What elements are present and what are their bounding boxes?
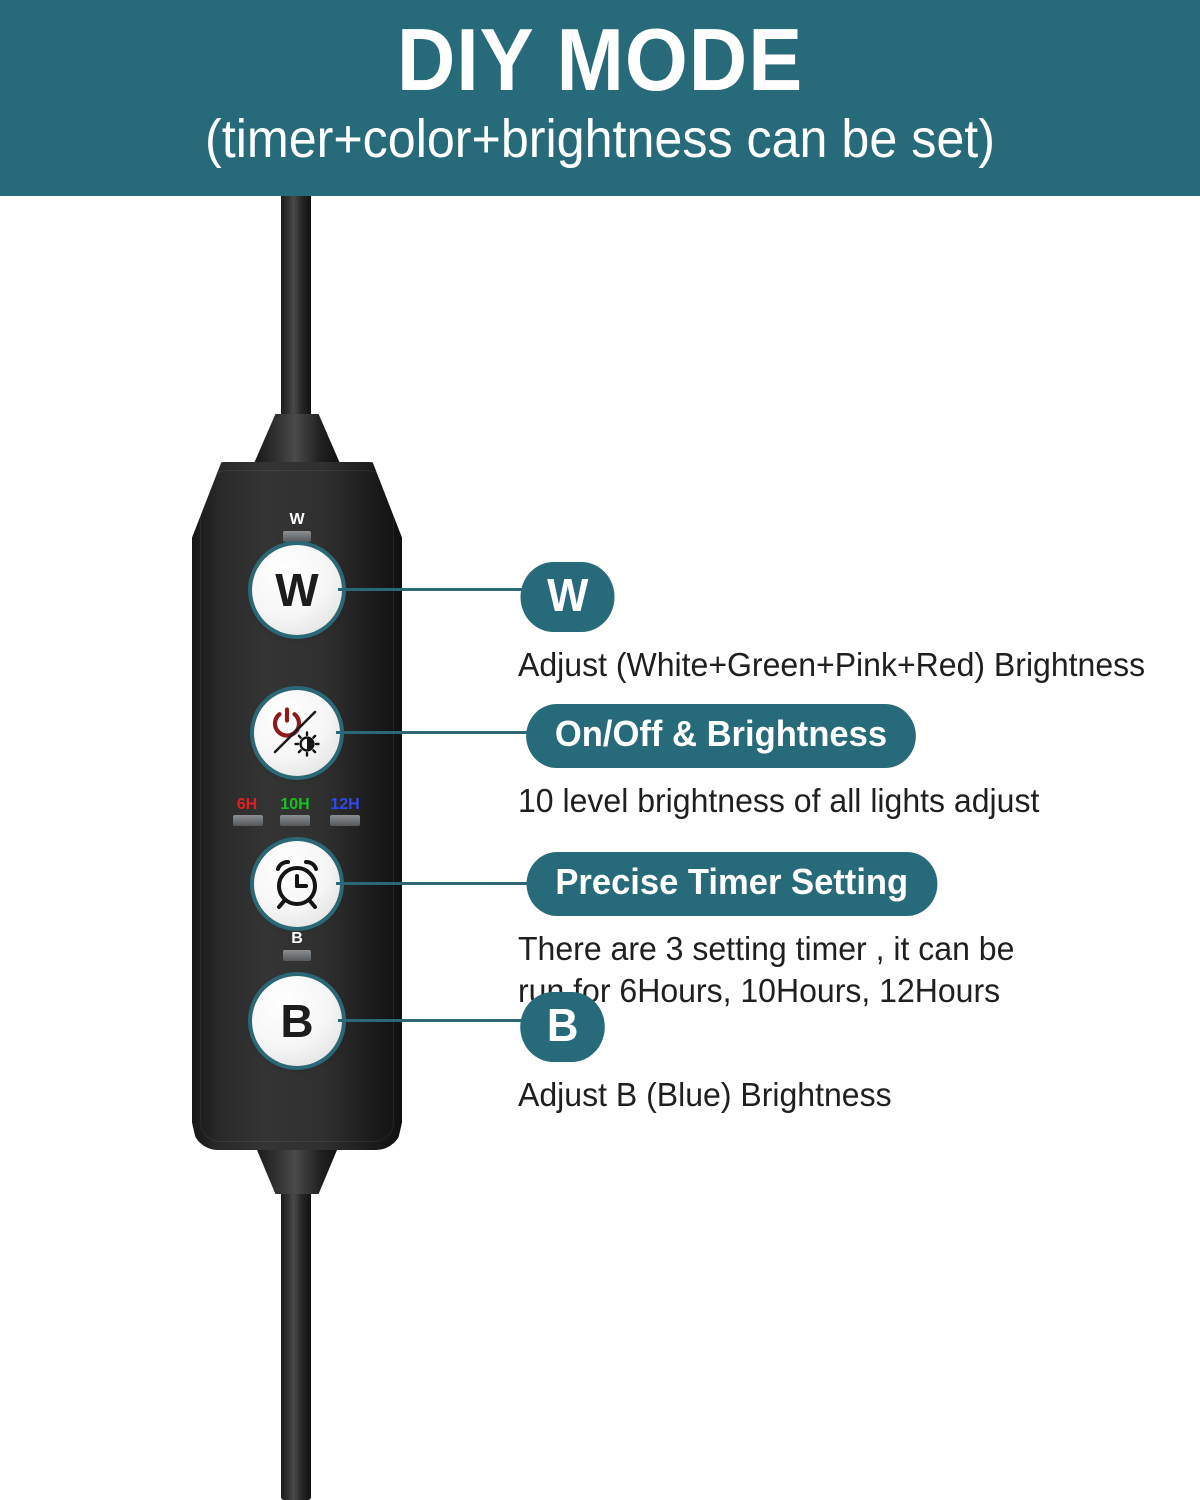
button-b[interactable]: B (252, 976, 342, 1066)
callout-connector-timer (336, 882, 536, 885)
led-indicator-label-10h: 10H (272, 797, 318, 813)
callout-description-power-brightness: 10 level brightness of all lights adjust (518, 780, 1039, 822)
button-w[interactable]: W (252, 545, 342, 635)
led-indicator-label-w: W (272, 512, 322, 528)
page-title: DIY MODE (48, 12, 1152, 108)
power-cable-top (281, 180, 311, 430)
header-banner: DIY MODE (timer+color+brightness can be … (0, 0, 1200, 196)
button-timer[interactable] (254, 841, 340, 927)
power-brightness-icon (266, 702, 328, 764)
callout-b: B Adjust B (Blue) Brightness (518, 992, 903, 1116)
strain-relief-top (252, 414, 342, 468)
led-indicator-label-6h: 6H (228, 797, 266, 813)
led-indicator-bar-12h (330, 815, 360, 826)
callout-precise-timer-setting: Precise Timer Setting There are 3 settin… (518, 852, 1030, 1012)
led-indicator-label-12h: 12H (322, 797, 368, 813)
led-indicator-bar-10h (280, 815, 310, 826)
callout-connector-w (338, 588, 544, 591)
callout-pill-w: W (520, 562, 614, 632)
callout-power-brightness: On/Off & Brightness 10 level brightness … (518, 704, 1055, 822)
button-b-letter: B (280, 998, 313, 1044)
button-w-letter: W (275, 567, 318, 613)
callout-pill-precise-timer-setting: Precise Timer Setting (527, 852, 937, 916)
callout-connector-b (338, 1019, 538, 1022)
button-power-brightness[interactable] (254, 690, 340, 776)
led-indicator-bar-b (283, 950, 311, 961)
led-indicator-label-b: B (272, 931, 322, 947)
callout-connector-power (336, 731, 536, 734)
callout-pill-b: B (520, 992, 605, 1062)
callout-description-b: Adjust B (Blue) Brightness (518, 1074, 892, 1116)
product-infographic-page: W W (0, 0, 1200, 1500)
alarm-clock-icon (268, 855, 326, 913)
page-subtitle: (timer+color+brightness can be set) (42, 108, 1158, 170)
led-indicator-bar-6h (233, 815, 263, 826)
callout-pill-power-brightness: On/Off & Brightness (526, 704, 916, 768)
power-cable-bottom (281, 1190, 311, 1500)
callout-description-w: Adjust (White+Green+Pink+Red) Brightness (518, 644, 1145, 686)
led-indicator-bar-w (283, 531, 311, 542)
callout-w: W Adjust (White+Green+Pink+Red) Brightne… (518, 562, 1165, 686)
